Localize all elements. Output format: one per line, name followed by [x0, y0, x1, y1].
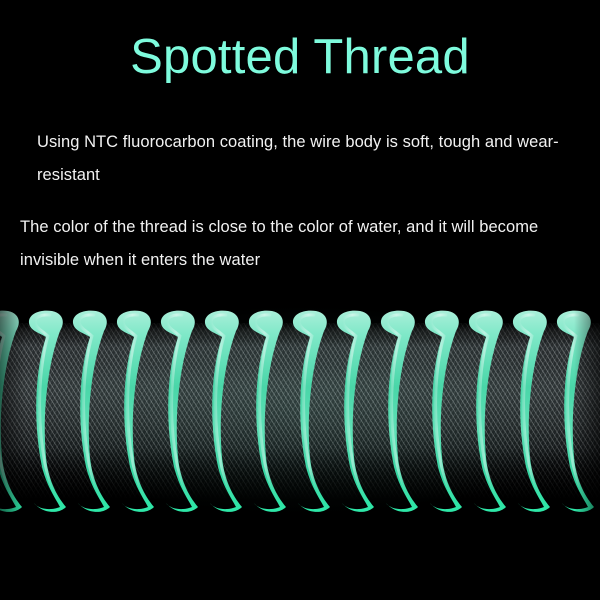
coil-group	[0, 305, 600, 515]
feature-paragraph-1: Using NTC fluorocarbon coating, the wire…	[37, 126, 572, 192]
feature-paragraph-2: The color of the thread is close to the …	[20, 211, 585, 277]
product-image	[0, 305, 600, 515]
product-detail-page: Spotted Thread Using NTC fluorocarbon co…	[0, 0, 600, 600]
page-title: Spotted Thread	[0, 28, 600, 86]
thread-coils-svg	[0, 305, 600, 515]
thread-coils	[0, 305, 600, 515]
